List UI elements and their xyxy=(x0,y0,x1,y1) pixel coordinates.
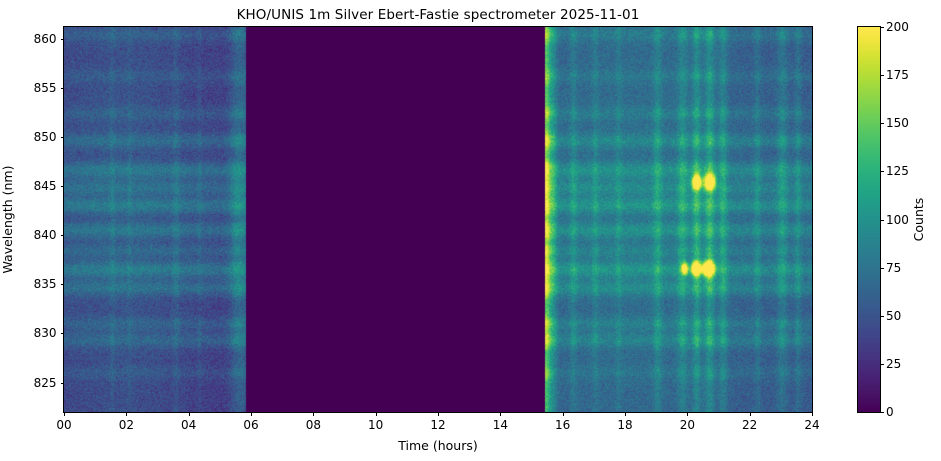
x-tick-label: 00 xyxy=(56,418,71,432)
spectrogram-heatmap[interactable] xyxy=(64,27,812,412)
x-tick-mark xyxy=(189,412,190,416)
x-tick-label: 04 xyxy=(181,418,196,432)
y-axis-label: Wavelength (nm) xyxy=(0,27,16,412)
y-tick-label: 855 xyxy=(14,81,57,95)
x-tick-mark xyxy=(64,412,65,416)
x-tick-mark xyxy=(812,412,813,416)
colorbar-tick-label: 75 xyxy=(886,261,901,275)
colorbar-tick-label: 50 xyxy=(886,309,901,323)
colorbar-tick-mark xyxy=(880,316,884,317)
colorbar-gradient xyxy=(858,27,880,412)
x-tick-mark xyxy=(625,412,626,416)
spectrogram-figure: KHO/UNIS 1m Silver Ebert-Fastie spectrom… xyxy=(0,0,941,461)
x-tick-label: 10 xyxy=(368,418,383,432)
x-tick-mark xyxy=(376,412,377,416)
x-tick-label: 18 xyxy=(617,418,632,432)
y-tick-mark xyxy=(61,88,65,89)
x-tick-label: 12 xyxy=(430,418,445,432)
heatmap-axes[interactable] xyxy=(63,26,813,413)
y-tick-mark xyxy=(61,383,65,384)
colorbar-label: Counts xyxy=(911,27,927,412)
x-tick-mark xyxy=(251,412,252,416)
x-axis-label: Time (hours) xyxy=(64,438,812,453)
y-tick-label: 860 xyxy=(14,32,57,46)
colorbar-tick-mark xyxy=(880,75,884,76)
x-tick-label: 08 xyxy=(306,418,321,432)
x-tick-mark xyxy=(563,412,564,416)
y-tick-mark xyxy=(61,39,65,40)
colorbar-tick-label: 200 xyxy=(886,20,909,34)
colorbar-tick-label: 175 xyxy=(886,68,909,82)
y-tick-label: 840 xyxy=(14,228,57,242)
colorbar-tick-label: 125 xyxy=(886,164,909,178)
page-title: KHO/UNIS 1m Silver Ebert-Fastie spectrom… xyxy=(0,7,876,23)
y-tick-label: 830 xyxy=(14,326,57,340)
colorbar[interactable] xyxy=(857,26,881,413)
colorbar-tick-label: 0 xyxy=(886,405,894,419)
y-tick-mark xyxy=(61,137,65,138)
x-tick-label: 22 xyxy=(742,418,757,432)
colorbar-tick-label: 150 xyxy=(886,116,909,130)
x-tick-mark xyxy=(313,412,314,416)
colorbar-tick-mark xyxy=(880,412,884,413)
x-tick-label: 06 xyxy=(243,418,258,432)
colorbar-tick-mark xyxy=(880,171,884,172)
y-tick-label: 850 xyxy=(14,130,57,144)
x-tick-label: 14 xyxy=(493,418,508,432)
x-tick-label: 02 xyxy=(119,418,134,432)
x-tick-label: 24 xyxy=(804,418,819,432)
x-tick-mark xyxy=(687,412,688,416)
x-tick-mark xyxy=(500,412,501,416)
colorbar-tick-mark xyxy=(880,364,884,365)
x-tick-mark xyxy=(126,412,127,416)
colorbar-tick-mark xyxy=(880,220,884,221)
y-tick-label: 845 xyxy=(14,179,57,193)
colorbar-tick-mark xyxy=(880,268,884,269)
x-tick-mark xyxy=(750,412,751,416)
colorbar-tick-label: 100 xyxy=(886,213,909,227)
colorbar-tick-mark xyxy=(880,123,884,124)
colorbar-tick-mark xyxy=(880,27,884,28)
x-tick-mark xyxy=(438,412,439,416)
x-tick-label: 16 xyxy=(555,418,570,432)
y-tick-mark xyxy=(61,333,65,334)
y-tick-mark xyxy=(61,284,65,285)
colorbar-tick-label: 25 xyxy=(886,357,901,371)
y-tick-mark xyxy=(61,186,65,187)
y-tick-label: 825 xyxy=(14,376,57,390)
y-tick-label: 835 xyxy=(14,277,57,291)
x-tick-label: 20 xyxy=(680,418,695,432)
y-tick-mark xyxy=(61,235,65,236)
